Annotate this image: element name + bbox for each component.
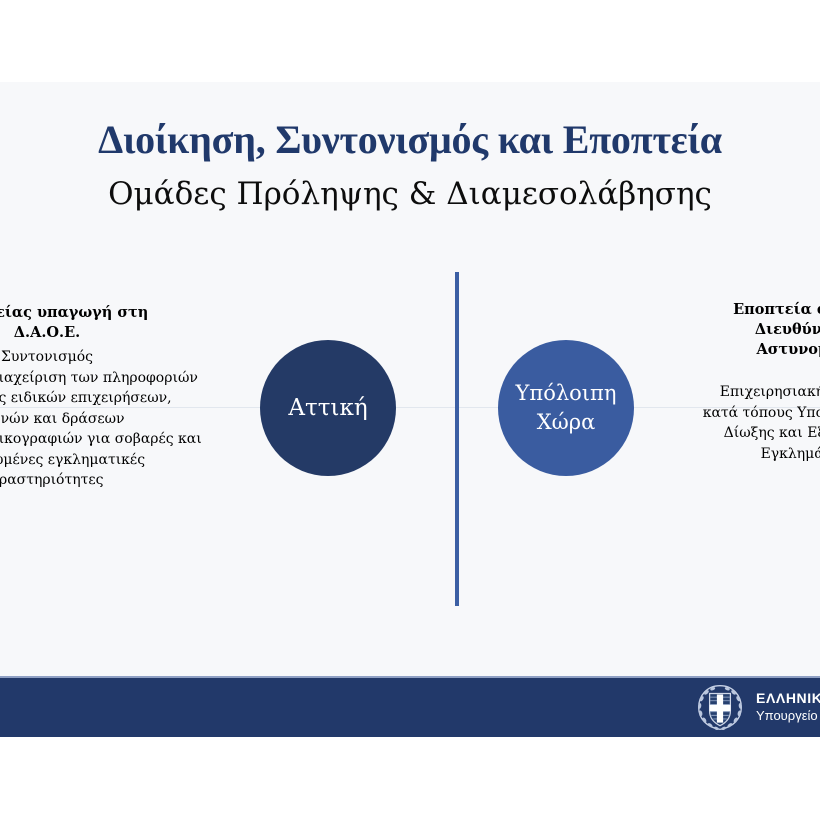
- right-block-body-line4: Εγκλημάτων: [761, 446, 820, 462]
- list-item: Συντονισμός: [0, 347, 202, 368]
- vertical-divider: [455, 272, 459, 606]
- left-block-list: Συντονισμός Συλλογή και διαχείριση των π…: [0, 347, 202, 491]
- right-block-heading: Εποπτεία από τις Διευθύνσεις Αστυνομίας: [676, 300, 820, 360]
- node-circle-attiki[interactable]: Αττική: [260, 340, 396, 476]
- footer-org-sub: Υπουργείο Προστασίας του Πολίτη: [756, 708, 820, 724]
- greek-coat-of-arms-icon: [694, 681, 746, 733]
- right-text-block: Εποπτεία από τις Διευθύνσεις Αστυνομίας …: [676, 300, 820, 464]
- footer-logo-group: ΕΛΛΗΝΙΚΗ ΔΗΜΟΚΡΑΤΙΑ Υπουργείο Προστασίας…: [694, 681, 820, 733]
- right-block-heading-line3: Αστυνομίας: [756, 341, 820, 358]
- footer-org-text: ΕΛΛΗΝΙΚΗ ΔΗΜΟΚΡΑΤΙΑ Υπουργείο Προστασίας…: [756, 690, 820, 724]
- left-block-heading: Απευθείας υπαγωγή στη Δ.Α.Ο.Ε.: [0, 303, 202, 343]
- node-label-line1: Υπόλοιπη: [516, 381, 617, 405]
- right-block-body-line3: Δίωξης και Εξιχνίασης: [724, 425, 820, 441]
- right-block-heading-line2: Διευθύνσεις: [755, 321, 820, 338]
- right-block-body-line1: Επιχειρησιακή υπαγωγή: [720, 384, 820, 400]
- left-text-block: Απευθείας υπαγωγή στη Δ.Α.Ο.Ε. Συντονισμ…: [0, 303, 202, 491]
- node-circle-ypoloipi-chora[interactable]: Υπόλοιπη Χώρα: [498, 340, 634, 476]
- left-block-heading-line2: Δ.Α.Ο.Ε.: [14, 324, 80, 341]
- slide-subtitle: Ομάδες Πρόληψης & Διαμεσολάβησης: [0, 174, 820, 214]
- right-block-heading-line1: Εποπτεία από τις: [733, 301, 820, 318]
- list-item: Συλλογή και διαχείριση των πληροφοριών: [0, 368, 202, 389]
- right-block-body-line2: κατά τόπους Υποδιευθύνσεις: [703, 405, 820, 421]
- node-label-ypoloipi-chora: Υπόλοιπη Χώρα: [508, 379, 625, 437]
- node-label-attiki: Αττική: [280, 393, 375, 423]
- slide-title: Διοίκηση, Συντονισμός και Εποπτεία: [0, 116, 820, 164]
- left-block-heading-line1: Απευθείας υπαγωγή στη: [0, 304, 148, 321]
- footer-org-name: ΕΛΛΗΝΙΚΗ ΔΗΜΟΚΡΑΤΙΑ: [756, 690, 820, 708]
- slide-stage: Διοίκηση, Συντονισμός και Εποπτεία Ομάδε…: [0, 0, 820, 820]
- list-item: Σχεδιασμός ειδικών επιχειρήσεων, ερευνών…: [0, 388, 202, 429]
- right-block-body: Επιχειρησιακή υπαγωγή κατά τόπους Υποδιε…: [676, 382, 820, 464]
- list-item: Σχηματισμός δικογραφιών για σοβαρές και …: [0, 429, 202, 491]
- node-label-line2: Χώρα: [537, 410, 596, 434]
